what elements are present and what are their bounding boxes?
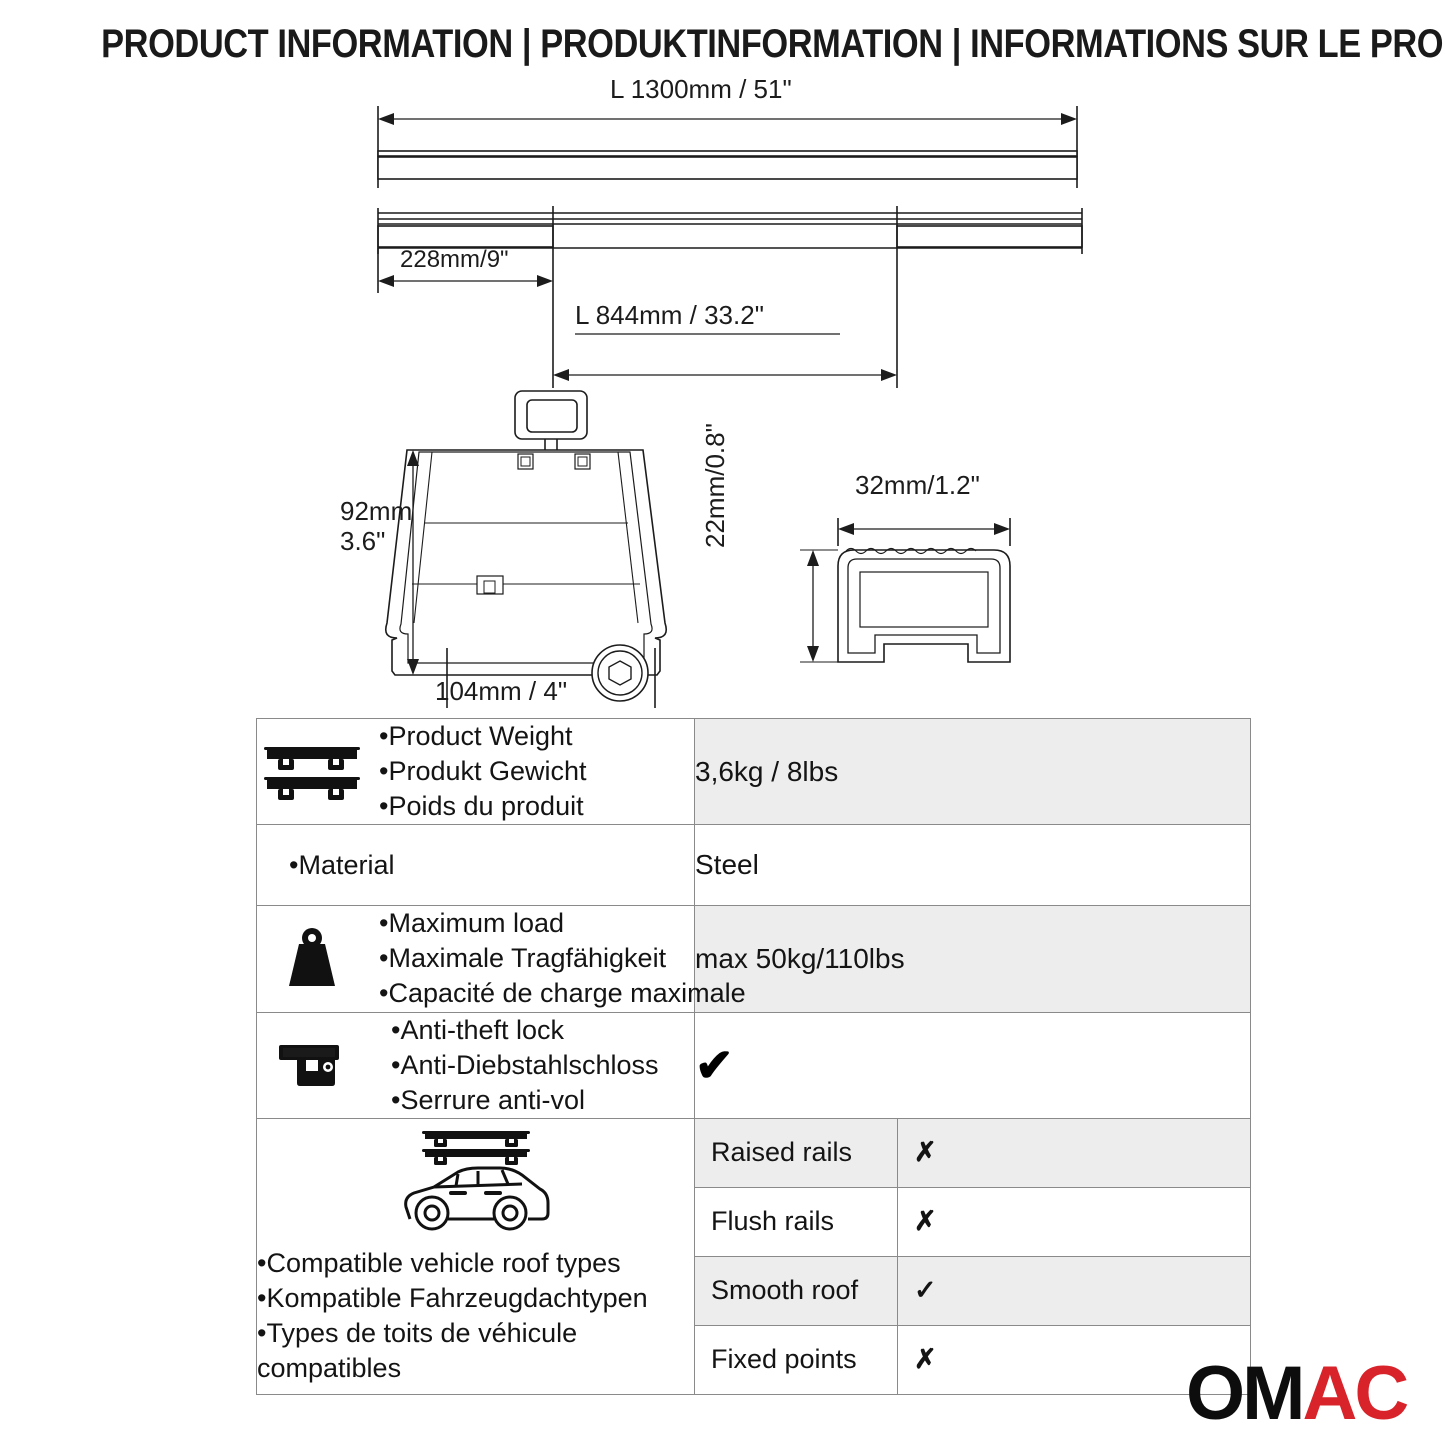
- dim-foot-width: 104mm / 4": [435, 676, 567, 707]
- omac-logo: OMAC: [1186, 1356, 1406, 1432]
- spec-label-cell-material: •Material: [257, 825, 695, 906]
- logo-text-ac: AC: [1302, 1351, 1406, 1436]
- compat-label-line: compatibles: [257, 1351, 694, 1386]
- roof-type-name: Smooth roof: [695, 1256, 898, 1325]
- roof-type-name: Raised rails: [695, 1119, 898, 1188]
- roof-type-name: Flush rails: [695, 1187, 898, 1256]
- table-row: •Compatible vehicle roof types •Kompatib…: [257, 1118, 1251, 1394]
- spec-label-line: •Serrure anti-vol: [391, 1083, 659, 1118]
- compat-label-line: •Kompatible Fahrzeugdachtypen: [257, 1281, 694, 1316]
- technical-drawing-area: L 1300mm / 51" 228mm/9" L 844mm / 33.2" …: [0, 78, 1445, 708]
- lock-icon: [257, 1037, 367, 1093]
- table-row: •Anti-theft lock •Anti-Diebstahlschloss …: [257, 1012, 1251, 1118]
- spec-labels-weight: •Product Weight •Produkt Gewicht •Poids …: [379, 719, 587, 824]
- spec-value-maxload: max 50kg/110lbs: [695, 906, 1251, 1012]
- spec-labels-material: •Material: [257, 848, 394, 883]
- dim-foot-height-mm: 92mm: [340, 496, 412, 527]
- dim-foot-offset: 228mm/9": [400, 246, 509, 274]
- roof-type-support: ✗: [898, 1119, 1251, 1188]
- roof-type-row: Fixed points ✗: [695, 1325, 1250, 1394]
- dim-span-length: L 844mm / 33.2": [575, 300, 764, 331]
- roof-type-support: ✓: [898, 1256, 1251, 1325]
- roof-types-cell: Raised rails ✗ Flush rails ✗ Smooth roof…: [695, 1118, 1251, 1394]
- page-title: PRODUCT INFORMATION | PRODUKTINFORMATION…: [101, 22, 1344, 67]
- spec-label-line: •Product Weight: [379, 719, 587, 754]
- roof-types-table: Raised rails ✗ Flush rails ✗ Smooth roof…: [695, 1119, 1250, 1394]
- spec-labels-maxload: •Maximum load •Maximale Tragfähigkeit •C…: [379, 906, 746, 1011]
- crossbars-icon: [257, 741, 367, 803]
- roof-type-row: Raised rails ✗: [695, 1119, 1250, 1188]
- table-row: •Product Weight •Produkt Gewicht •Poids …: [257, 719, 1251, 825]
- spec-label-line: •Anti-Diebstahlschloss: [391, 1048, 659, 1083]
- spec-value-material: Steel: [695, 825, 1251, 906]
- compatibility-labels: •Compatible vehicle roof types •Kompatib…: [257, 1246, 694, 1386]
- roof-type-row: Flush rails ✗: [695, 1187, 1250, 1256]
- spec-label-line: •Maximum load: [379, 906, 746, 941]
- compat-label-line: •Compatible vehicle roof types: [257, 1246, 694, 1281]
- dim-overall-length: L 1300mm / 51": [610, 74, 792, 105]
- spec-value-lock: ✔: [695, 1012, 1251, 1118]
- dim-profile-height: 22mm/0.8": [700, 423, 731, 548]
- spec-label-line: •Produkt Gewicht: [379, 754, 587, 789]
- table-row: •Material Steel: [257, 825, 1251, 906]
- spec-label-line: •Poids du produit: [379, 789, 587, 824]
- spec-label-cell-lock: •Anti-theft lock •Anti-Diebstahlschloss …: [257, 1012, 695, 1118]
- spec-label-line: •Maximale Tragfähigkeit: [379, 941, 746, 976]
- spec-value-weight: 3,6kg / 8lbs: [695, 719, 1251, 825]
- spec-label-line: •Capacité de charge maximale: [379, 976, 746, 1011]
- logo-text-om: OM: [1186, 1351, 1302, 1436]
- spec-label-cell-weight: •Product Weight •Produkt Gewicht •Poids …: [257, 719, 695, 825]
- spec-label-line: •Anti-theft lock: [391, 1013, 659, 1048]
- specification-table: •Product Weight •Produkt Gewicht •Poids …: [256, 718, 1251, 1395]
- car-with-rack-icon: [396, 1224, 556, 1241]
- check-icon: ✔: [695, 1039, 734, 1091]
- spec-labels-lock: •Anti-theft lock •Anti-Diebstahlschloss …: [379, 1013, 659, 1118]
- dimension-drawing-svg: [0, 78, 1445, 708]
- weight-icon: [257, 924, 367, 994]
- roof-type-name: Fixed points: [695, 1325, 898, 1394]
- spec-label-cell-maxload: •Maximum load •Maximale Tragfähigkeit •C…: [257, 906, 695, 1012]
- compatibility-label-cell: •Compatible vehicle roof types •Kompatib…: [257, 1118, 695, 1394]
- product-information-page: PRODUCT INFORMATION | PRODUKTINFORMATION…: [0, 0, 1445, 1445]
- dim-profile-width: 32mm/1.2": [855, 470, 980, 501]
- roof-type-support: ✗: [898, 1187, 1251, 1256]
- spec-label-line: •Material: [289, 848, 394, 883]
- compat-label-line: •Types de toits de véhicule: [257, 1316, 694, 1351]
- roof-type-row: Smooth roof ✓: [695, 1256, 1250, 1325]
- table-row: •Maximum load •Maximale Tragfähigkeit •C…: [257, 906, 1251, 1012]
- dim-foot-height-in: 3.6": [340, 526, 385, 557]
